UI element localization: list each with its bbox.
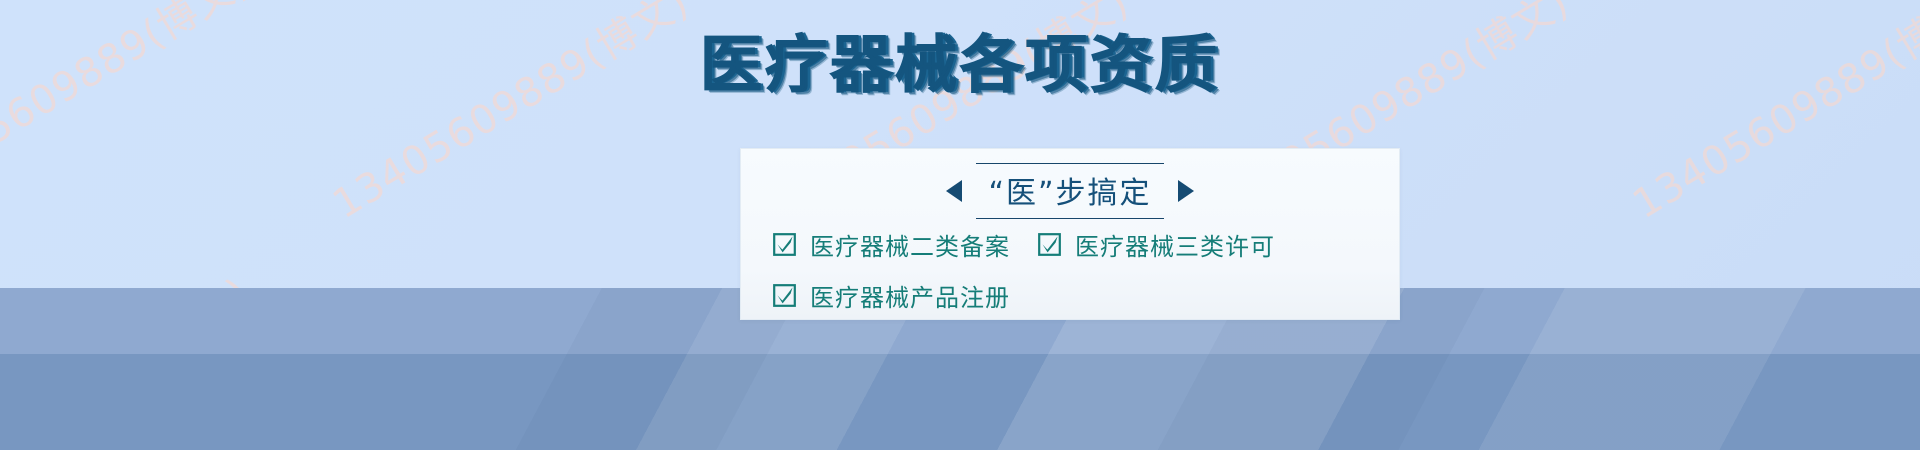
checkbox-checked-icon[interactable] xyxy=(773,233,796,256)
banner-root: 13405609889(博文) 13405609889(博文) 13405609… xyxy=(0,0,1920,450)
checklist-row: 医疗器械二类备案 医疗器械三类许可 xyxy=(773,227,1373,262)
subtitle-frame: “医”步搞定 xyxy=(982,163,1157,219)
right-triangle-icon xyxy=(1178,180,1194,202)
list-item[interactable]: 医疗器械产品注册 xyxy=(773,278,1010,313)
list-item-label: 医疗器械产品注册 xyxy=(810,278,1010,313)
checkbox-checked-icon[interactable] xyxy=(773,284,796,307)
list-item-label: 医疗器械三类许可 xyxy=(1075,227,1275,262)
list-item[interactable]: 医疗器械三类许可 xyxy=(1038,227,1275,262)
list-item[interactable]: 医疗器械二类备案 xyxy=(773,227,1010,262)
card-subtitle-row: “医”步搞定 xyxy=(741,163,1399,219)
footer-band-lower xyxy=(0,354,1920,450)
checkbox-checked-icon[interactable] xyxy=(1038,233,1061,256)
qualification-card: “医”步搞定 医疗器械二类备案 xyxy=(740,148,1400,320)
page-title: 医疗器械各项资质 xyxy=(0,32,1920,97)
list-item-label: 医疗器械二类备案 xyxy=(810,227,1010,262)
left-triangle-icon xyxy=(946,180,962,202)
checklist-row: 医疗器械产品注册 xyxy=(773,278,1373,313)
card-subtitle: “医”步搞定 xyxy=(988,176,1151,211)
checklist: 医疗器械二类备案 医疗器械三类许可 xyxy=(773,227,1373,329)
